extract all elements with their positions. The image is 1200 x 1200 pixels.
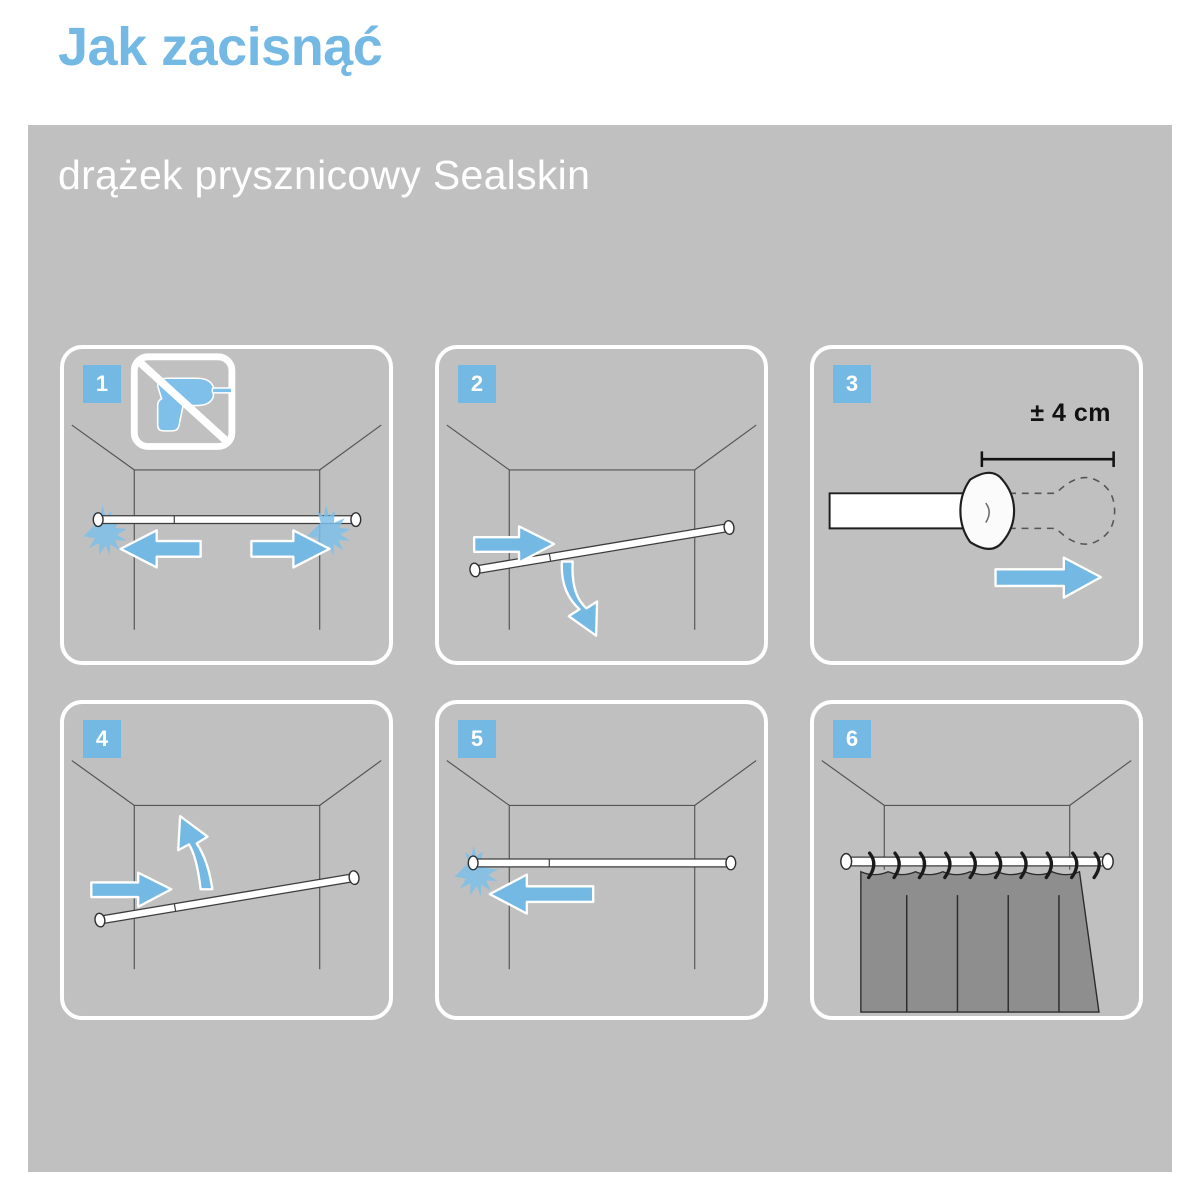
step-number-badge-4: 4 [83,720,121,758]
instruction-sheet: Jak zacisnąć drążek prysznicowy Sealskin… [0,0,1200,1200]
shower-rod [468,856,735,870]
curved-arrow-up-icon [178,816,212,889]
steps-grid: 1 [60,345,1140,1150]
arrow-right-icon [91,873,171,907]
burst-left-icon [455,845,499,896]
step-card-2: 2 [435,345,768,665]
step-number-badge-5: 5 [458,720,496,758]
measurement-label: ± 4 cm [1030,399,1111,428]
page-title: Jak zacisnąć [58,18,382,77]
arrow-left-icon [121,530,201,567]
dashed-extension-outline [1009,478,1114,545]
rod-end-cap [960,473,1014,549]
instruction-board: drążek prysznicowy Sealskin 1 [28,125,1172,1172]
step-card-1: 1 [60,345,393,665]
step-card-3: 3 ± 4 cm [810,345,1143,665]
shower-rod [841,854,1113,870]
arrow-left-icon [490,875,593,914]
arrow-right-icon [996,558,1101,598]
page-subtitle: drążek prysznicowy Sealskin [58,152,590,199]
step-number-badge-3: 3 [833,365,871,403]
curved-arrow-down-icon [562,562,597,636]
step-card-6: 6 [810,700,1143,1020]
no-drill-icon [134,357,232,447]
step-number-badge-6: 6 [833,720,871,758]
dimension-line [982,451,1114,467]
step-card-5: 5 [435,700,768,1020]
shower-curtain [861,872,1099,1012]
step-card-4: 4 [60,700,393,1020]
room-wireframe [72,761,381,970]
step-number-badge-1: 1 [83,365,121,403]
step-number-badge-2: 2 [458,365,496,403]
